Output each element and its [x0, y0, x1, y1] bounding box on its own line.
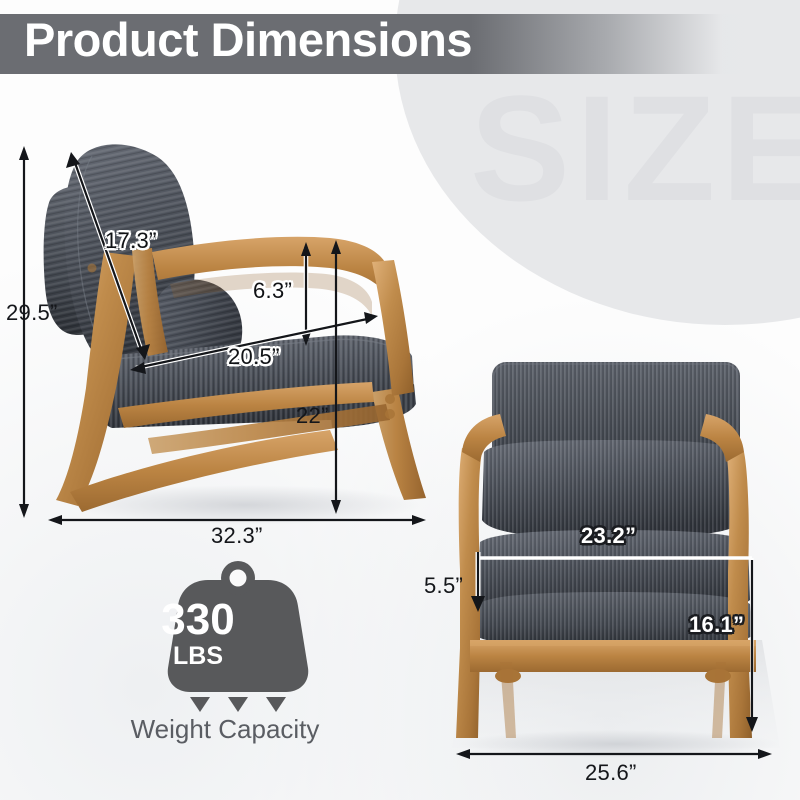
dim-label-seat-height: 22”: [296, 403, 329, 429]
dim-label-overall-width: 25.6”: [585, 760, 637, 786]
dim-label-cushion-thickness: 5.5”: [424, 573, 463, 599]
dim-label-seat-width: 23.2”: [581, 523, 636, 549]
size-watermark: SIZE: [470, 62, 800, 235]
dim-label-armrest-height: 6.3”: [253, 278, 292, 304]
dim-label-seat-inner-depth: 16.1”: [689, 612, 744, 638]
page-title: Product Dimensions: [24, 16, 472, 63]
weight-capacity-caption: Weight Capacity: [96, 714, 354, 745]
weight-capacity-block: 330 LBS Weight Capacity: [110, 566, 370, 756]
dim-label-seat-depth: 20.5”: [228, 344, 280, 370]
dim-label-overall-height: 29.5”: [6, 300, 58, 326]
weight-capacity-unit: LBS: [110, 644, 286, 669]
infographic-canvas: SIZE Product Dimensions: [0, 0, 800, 800]
dim-label-backrest-height: 17.3”: [105, 228, 157, 254]
dim-label-overall-depth: 32.3”: [211, 523, 263, 549]
weight-capacity-number: 330: [110, 598, 286, 642]
